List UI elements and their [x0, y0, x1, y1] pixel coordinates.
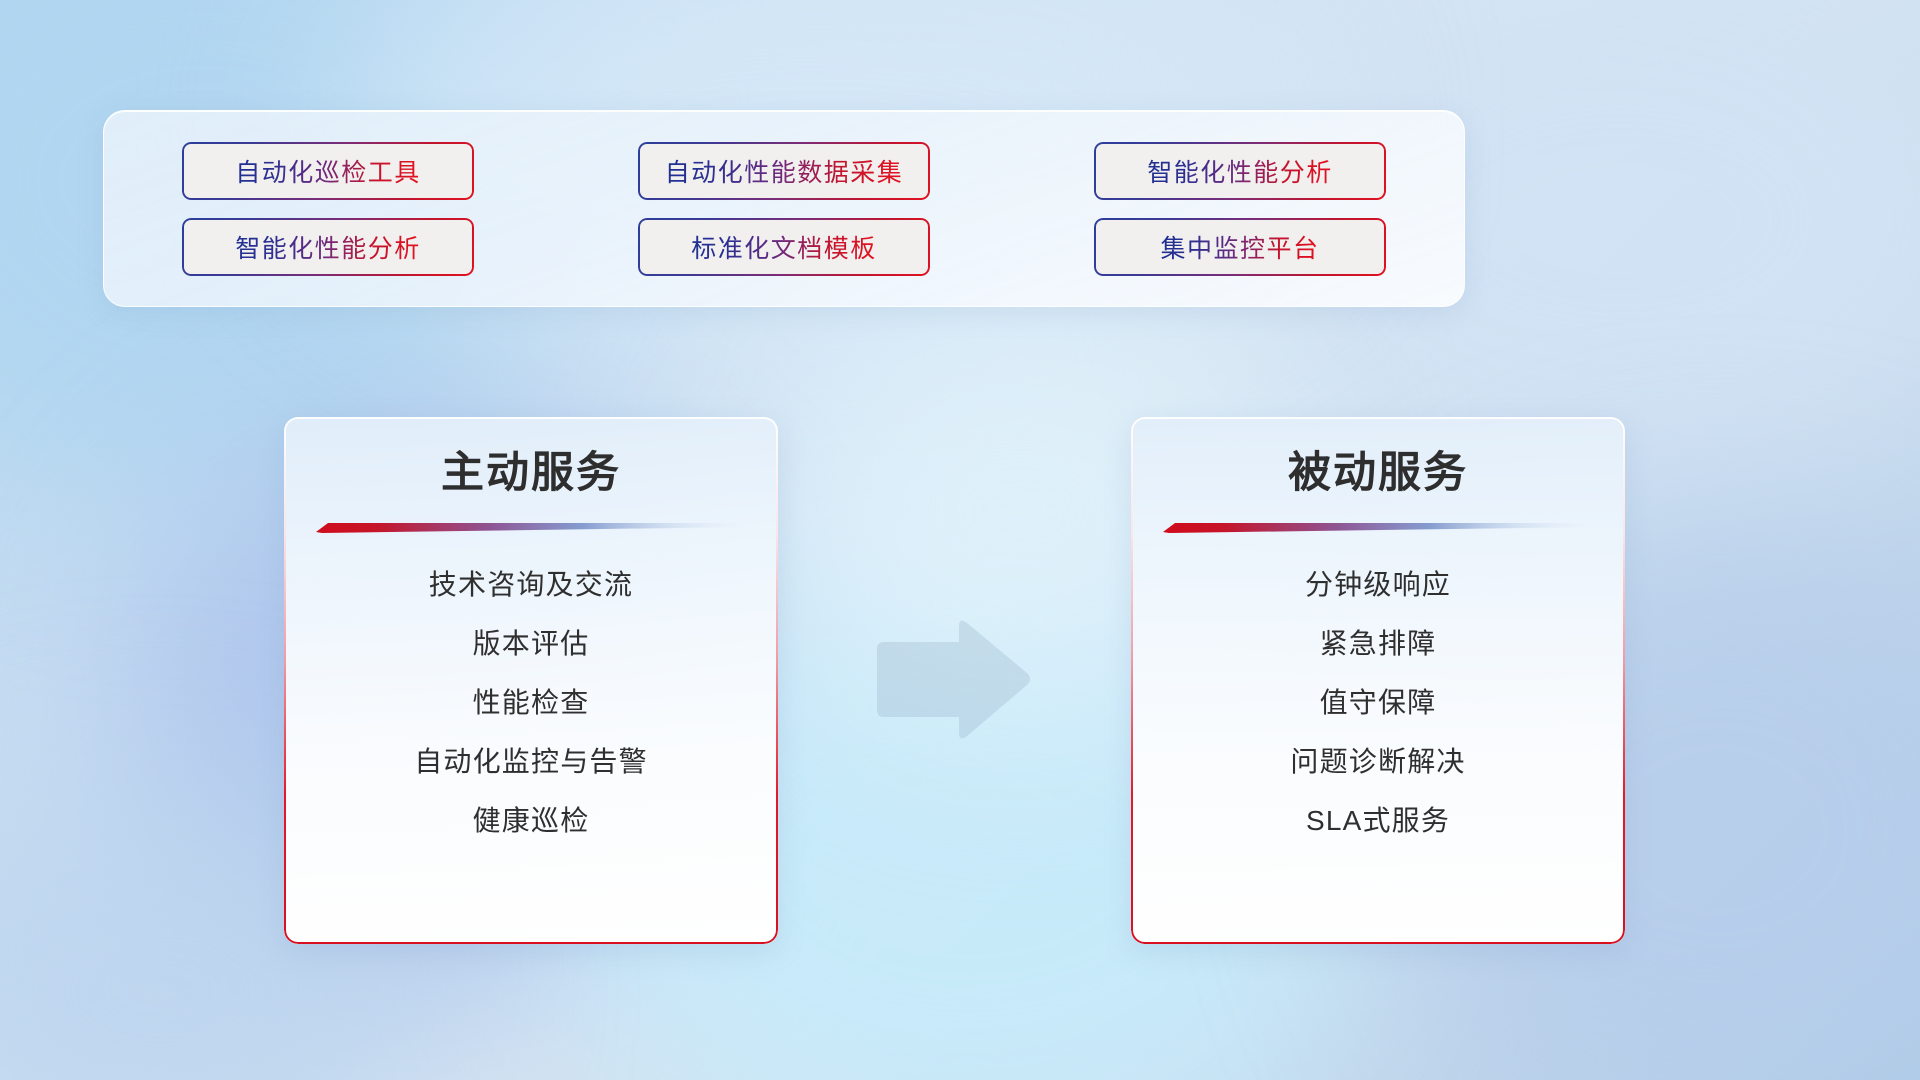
capability-chip-standard-doc-template[interactable]: 标准化文档模板: [638, 218, 930, 276]
card-item-list-passive: 分钟级响应 紧急排障 值守保障 问题诊断解决 SLA式服务: [1161, 556, 1595, 850]
capability-chip-label: 自动化巡检工具: [235, 153, 421, 189]
capability-chip-label: 智能化性能分析: [1147, 153, 1333, 189]
card-item[interactable]: 性能检查: [473, 674, 590, 733]
card-title-passive: 被动服务: [1288, 449, 1468, 498]
capabilities-row-2: 智能化性能分析 标准化文档模板 集中监控平台: [182, 218, 1386, 276]
capability-chip-intelligent-performance-analysis-2[interactable]: 智能化性能分析: [182, 218, 474, 276]
card-divider-passive: [1163, 520, 1593, 534]
arrow-right-icon: [873, 617, 1033, 743]
card-item[interactable]: 技术咨询及交流: [429, 556, 633, 615]
capability-chip-label: 集中监控平台: [1160, 229, 1319, 265]
card-item-list-active: 技术咨询及交流 版本评估 性能检查 自动化监控与告警 健康巡检: [314, 556, 748, 850]
card-item[interactable]: 紧急排障: [1320, 615, 1437, 674]
card-title-active: 主动服务: [441, 449, 621, 498]
service-card-passive[interactable]: 被动服务: [1131, 417, 1625, 944]
capability-chip-automation-inspection-tool[interactable]: 自动化巡检工具: [182, 142, 474, 200]
capability-chip-centralized-monitoring-platform[interactable]: 集中监控平台: [1094, 218, 1386, 276]
capability-chip-automation-performance-collection[interactable]: 自动化性能数据采集: [638, 142, 930, 200]
slide-canvas: 自动化巡检工具 自动化性能数据采集 智能化性能分析 智能化性能分析 标准化文档模…: [0, 0, 1920, 1080]
card-item[interactable]: 问题诊断解决: [1290, 733, 1465, 792]
capability-chip-label: 智能化性能分析: [235, 229, 421, 265]
card-item[interactable]: 分钟级响应: [1305, 556, 1451, 615]
card-item[interactable]: 健康巡检: [473, 792, 590, 851]
service-card-active[interactable]: 主动服务: [284, 417, 778, 944]
capabilities-row-1: 自动化巡检工具 自动化性能数据采集 智能化性能分析: [182, 142, 1386, 200]
card-item[interactable]: 值守保障: [1320, 674, 1437, 733]
card-item[interactable]: 版本评估: [473, 615, 590, 674]
capability-chip-intelligent-performance-analysis[interactable]: 智能化性能分析: [1094, 142, 1386, 200]
capability-chip-label: 自动化性能数据采集: [665, 153, 904, 189]
card-divider-active: [316, 520, 746, 534]
capability-chip-label: 标准化文档模板: [691, 229, 877, 265]
card-item[interactable]: 自动化监控与告警: [414, 733, 648, 792]
capabilities-panel: 自动化巡检工具 自动化性能数据采集 智能化性能分析 智能化性能分析 标准化文档模…: [103, 110, 1465, 307]
card-item[interactable]: SLA式服务: [1306, 792, 1450, 851]
